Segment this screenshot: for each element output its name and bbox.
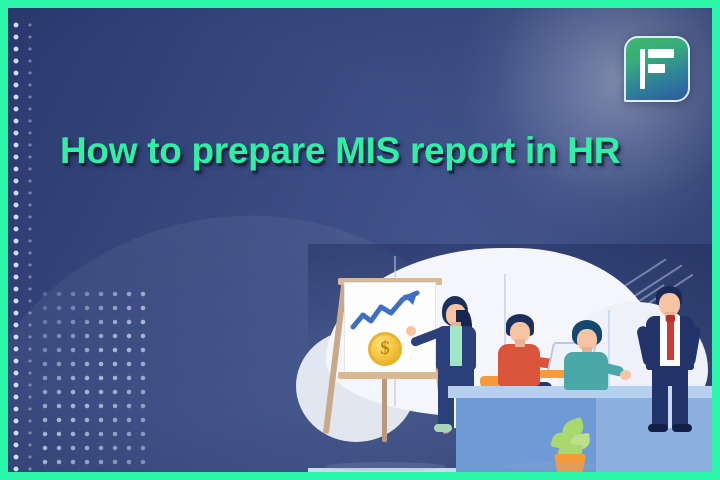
- lower-left-dot-grid: [41, 290, 149, 472]
- figure-standing-manager: [642, 286, 702, 436]
- office-team-illustration: $: [308, 244, 712, 472]
- banner-frame: How to prepare MIS report in HR: [0, 0, 720, 480]
- page-title: How to prepare MIS report in HR: [60, 129, 680, 173]
- dollar-coin-icon: $: [368, 332, 402, 366]
- logo-f-icon: [624, 36, 690, 102]
- banner-stage: How to prepare MIS report in HR: [8, 8, 712, 472]
- brand-logo[interactable]: [624, 36, 690, 102]
- figure-desk-woman: [562, 320, 632, 396]
- left-dot-strip: [13, 22, 43, 472]
